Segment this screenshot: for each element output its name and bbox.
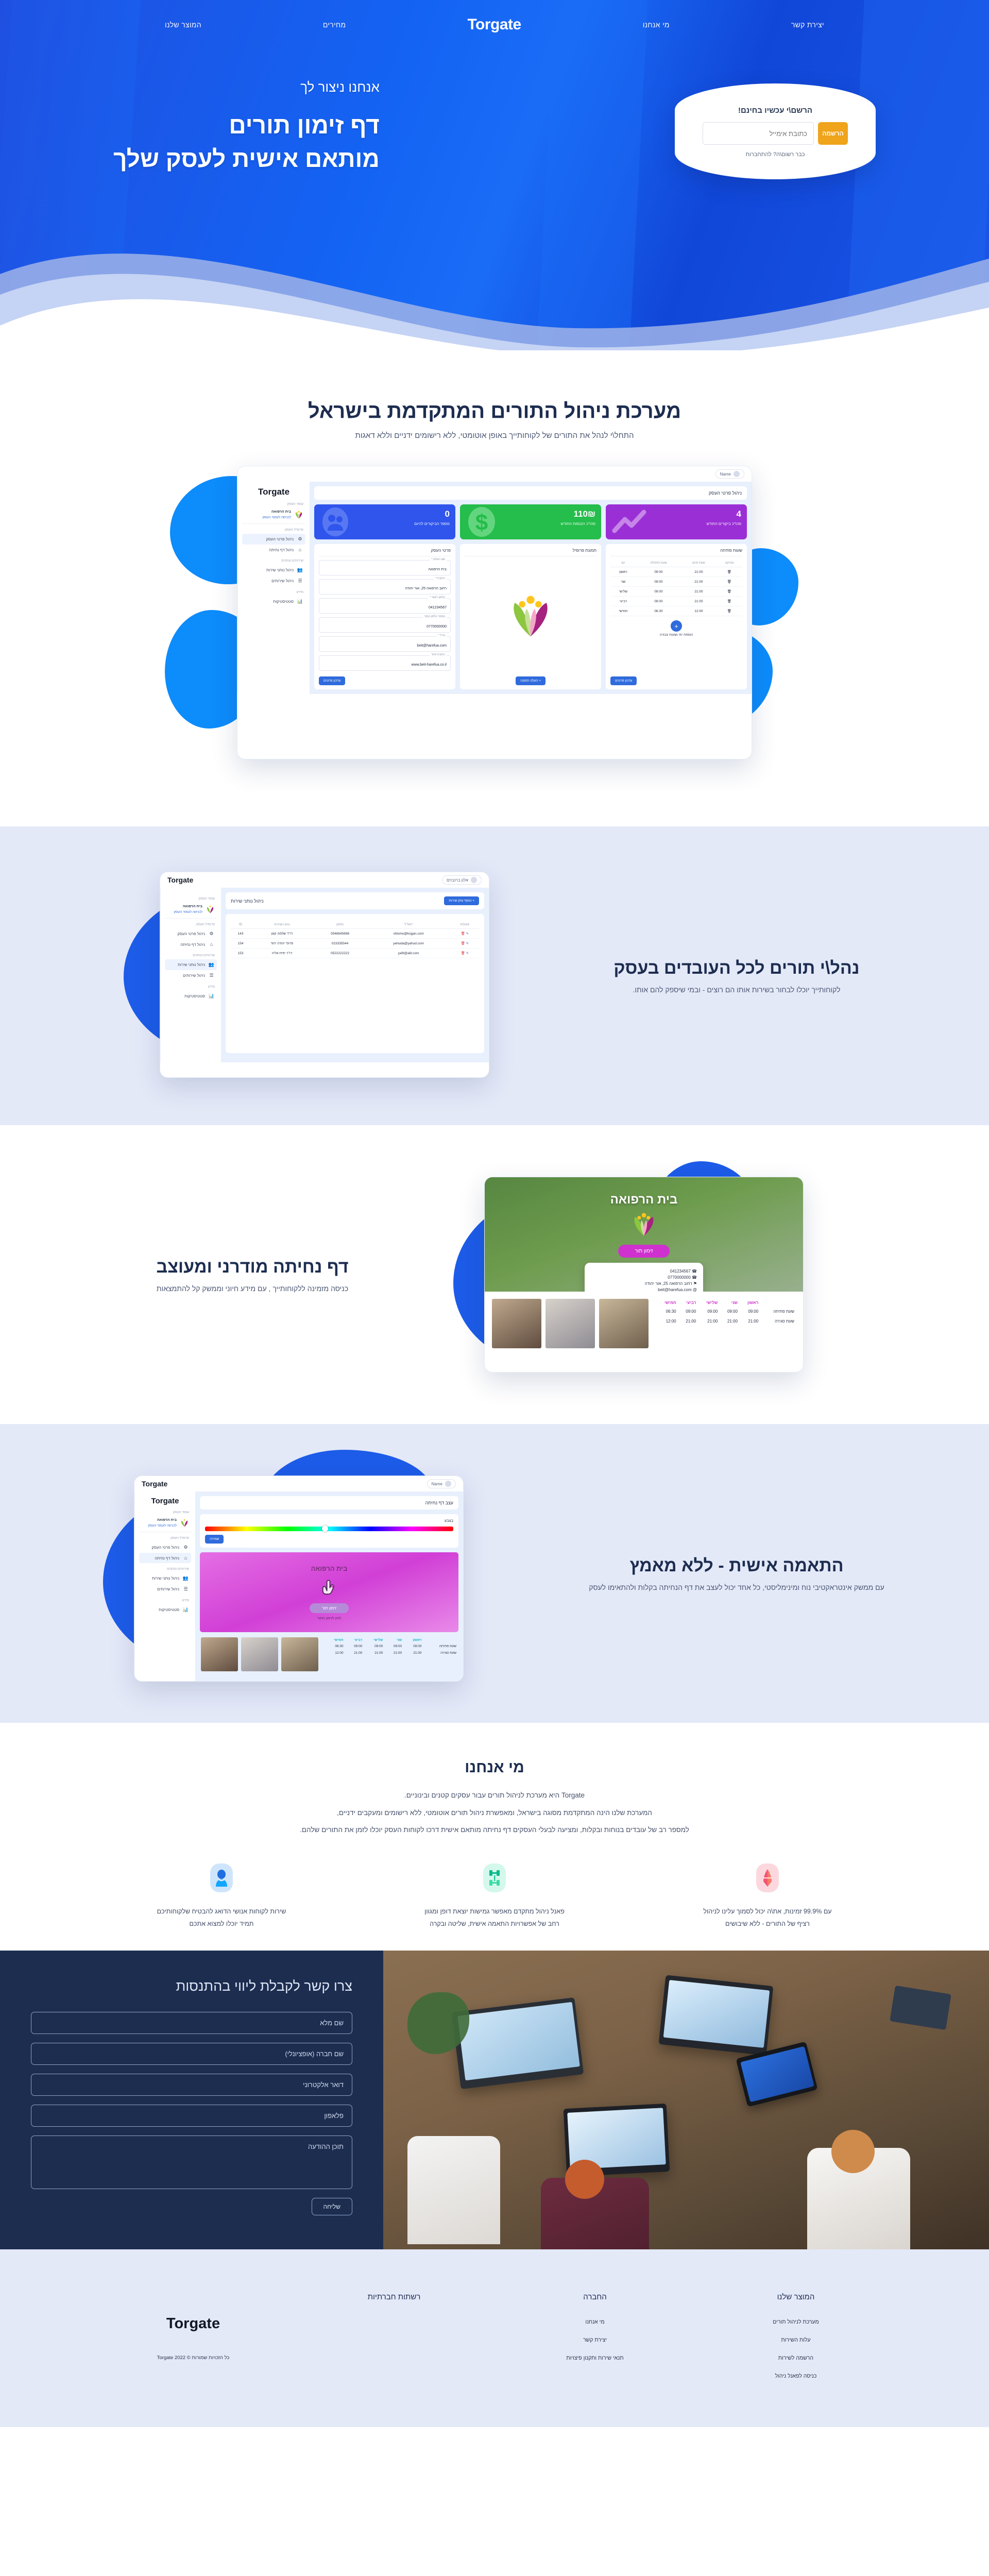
- phone-icon: ☎: [692, 1269, 697, 1274]
- cell-id: 153: [231, 948, 250, 958]
- people-icon: 👥: [209, 962, 214, 968]
- field-business-name[interactable]: שם העסק *בית הרפואה: [319, 560, 451, 575]
- email-field[interactable]: [31, 2074, 352, 2096]
- sidebar-item-services[interactable]: ☰ניהול שירותים: [242, 575, 305, 586]
- providers-heading: נהל\י תורים לכל העובדים בעסק: [577, 958, 896, 978]
- sidebar-business-name: בית הרפואה: [262, 510, 291, 515]
- close-time: 21:00: [363, 1650, 384, 1656]
- add-hours-label: הוספת ימי ושעות עבודה: [610, 633, 742, 637]
- panel-title: ניהול פרטי העסק: [314, 486, 747, 500]
- field-value: בית הרפואה: [428, 568, 447, 571]
- cell-day: שלישי: [610, 587, 636, 597]
- th-actions: פעולות: [451, 921, 479, 929]
- table-row: ✎ 🗑shlomo@kogan.com0546645696ד\"ר שלמה ק…: [231, 929, 479, 939]
- sidebar-item-landing-page[interactable]: ⌂ניהול דף נחיתה: [139, 1553, 191, 1563]
- footer-column-title: המוצר שלנו: [695, 2293, 896, 2301]
- signup-email-input[interactable]: [703, 122, 814, 145]
- company-field[interactable]: [31, 2043, 352, 2065]
- cell-start: 09:00: [636, 567, 681, 577]
- landing-page-section: דף נחיתה מודרני ומעוצב כניסה מזמינה ללקו…: [0, 1125, 989, 1424]
- list-icon: ☰: [297, 578, 303, 584]
- sidebar-caption-services: שירותים ונותנים: [167, 954, 215, 957]
- sidebar-item-label: ניהול דף נחיתה: [269, 548, 294, 552]
- profile-card-title: תמונת פרופיל: [465, 548, 596, 556]
- intro-artwork: Name ניהול פרטי העסק 4 סה\"כ ביקורים החו…: [0, 455, 989, 785]
- submit-button[interactable]: שליחה: [312, 2198, 353, 2215]
- providers-table: פעולות דוא\"ל טלפון נותן השירות ID ✎ 🗑sh…: [231, 921, 479, 958]
- contact-section: צרו קשר לקבלת ליווי בהתנסות שליחה: [0, 1951, 989, 2249]
- footer-link[interactable]: כניסה לפאנל ניהול: [695, 2373, 896, 2379]
- contact-text: רחוב הרפואה 25, אור יהודה: [645, 1281, 692, 1286]
- sidebar-item-label: ניהול שירותים: [183, 973, 205, 978]
- signup-title: הרשם\י עכשיו בחינם!: [703, 106, 848, 115]
- cell-email: yafit@alit.com: [366, 948, 450, 958]
- field-email[interactable]: מייל *beit@harefua.com: [319, 636, 451, 652]
- nav-about[interactable]: מי אנחנו: [643, 21, 670, 29]
- sidebar-item-services[interactable]: ☰ניהול שירותים: [139, 1584, 191, 1595]
- upload-image-button[interactable]: + העלה תמונה: [516, 676, 545, 685]
- save-color-button[interactable]: שמירה: [205, 1535, 224, 1544]
- intro-section: מערכת ניהול התורים המתקדמת בישראל התחל\י…: [0, 350, 989, 826]
- th-end: שעת סיום: [681, 560, 717, 567]
- color-picker-panel: בצבע שמירה: [200, 1514, 458, 1548]
- sidebar-business-link[interactable]: לכניסה לעמוד העסק: [262, 515, 291, 520]
- cell-email: shlomo@kogan.com: [366, 929, 450, 939]
- preview-title: בית הרפואה: [200, 1565, 458, 1572]
- customization-heading: התאמה אישית - ללא מאמץ: [577, 1556, 896, 1576]
- footer-link[interactable]: תנאי שירות ותקנון פיצויות: [494, 2355, 695, 2361]
- cell-start: 09:00: [636, 597, 681, 606]
- hours-table: מחיקה שעת סיום שעת התחלה יום 🗑21:0009:00…: [610, 560, 742, 616]
- close-label: שעת סגירה: [760, 1316, 796, 1326]
- hours-card-title: שעות פתיחה: [610, 548, 742, 556]
- delete-icon[interactable]: 🗑: [717, 567, 742, 577]
- sidebar-business-link[interactable]: לכניסה לעמוד העסק: [174, 910, 202, 915]
- signup-card: הרשם\י עכשיו בחינם! הרשמה כבר רשום\ה? לה…: [675, 83, 876, 179]
- open-time: 09:00: [345, 1643, 364, 1650]
- feature-text: פאנל ניהול מתקדם מאפשר גמישות יוצאת דופן…: [386, 1906, 603, 1930]
- sidebar-item-business-details[interactable]: ⚙ניהול פרטי העסק: [139, 1542, 191, 1553]
- field-caption: מייל *: [437, 634, 447, 637]
- cell-day: ראשון: [610, 567, 636, 577]
- field-main-phone[interactable]: טלפון ראשי *041234567: [319, 598, 451, 614]
- sidebar-caption-profile: פרופיל העסק: [244, 528, 303, 532]
- footer-copyright: כל הזכויות שמורות © Torgate 2022: [93, 2355, 294, 2361]
- home-icon: ⌂: [209, 942, 214, 947]
- about-paragraph-2: המערכת שלנו הינה המתקדמת מסוגה בישראל, ו…: [0, 1807, 989, 1819]
- table-row: 🗑12:0006:30חמישי: [610, 606, 742, 616]
- sidebar-item-landing-page[interactable]: ⌂ניהול דף נחיתה: [242, 545, 305, 555]
- open-time: 09:00: [384, 1643, 403, 1650]
- delete-icon[interactable]: 🗑: [717, 606, 742, 616]
- landing-preview: בית הרפואה זימון תור לחץ לזימון התור: [200, 1552, 458, 1632]
- sidebar-caption-services: שירותים ונותנים: [244, 559, 303, 563]
- sidebar-item-providers[interactable]: 👥ניהול נותני שירות: [242, 565, 305, 575]
- about-section: מי אנחנו Torgate היא מערכת לניהול תורים …: [0, 1723, 989, 1951]
- th-delete: מחיקה: [717, 560, 742, 567]
- kpi-card-visits: 4 סה\"כ ביקורים החודש: [606, 504, 747, 539]
- close-time: 21:00: [719, 1316, 739, 1326]
- home-icon: ⌂: [183, 1555, 189, 1561]
- phone-field[interactable]: [31, 2105, 352, 2127]
- intro-heading: מערכת ניהול התורים המתקדמת בישראל: [0, 400, 989, 423]
- sidebar-item-label: ניהול פרטי העסק: [152, 1545, 179, 1550]
- profile-image-card: תמונת פרופיל: [460, 544, 601, 689]
- list-icon: ☰: [183, 1586, 189, 1592]
- hours-update-button[interactable]: עדכון פרטים: [610, 676, 637, 685]
- sidebar-caption-profile: פרופיל העסק: [167, 923, 215, 926]
- th-id: ID: [231, 921, 250, 929]
- sidebar-item-providers[interactable]: 👥ניהול נותני שירות: [139, 1573, 191, 1584]
- hero-title-line-2: מותאם אישית לעסק שלך: [113, 142, 380, 176]
- footer-link[interactable]: עלות השירות: [695, 2337, 896, 2343]
- cell-day: חמישי: [610, 606, 636, 616]
- preview-tagline: לחץ לזימון התור: [200, 1617, 458, 1620]
- sidebar-item-label: ניהול שירותים: [157, 1587, 179, 1591]
- brand-logo-text: Torgate: [467, 16, 521, 33]
- sidebar-item-business-details[interactable]: ⚙ניהול פרטי העסק: [242, 534, 305, 545]
- people-icon: 👥: [297, 567, 303, 573]
- contact-text: beit@harefua.com: [658, 1287, 692, 1292]
- gallery-photo: [599, 1299, 649, 1348]
- people-icon: 👥: [183, 1575, 189, 1581]
- bar-chart-icon: 📊: [183, 1607, 189, 1613]
- cell-phone: 023335544: [314, 939, 367, 948]
- th-provider: נותן השירות: [250, 921, 313, 929]
- sidebar-item-statistics[interactable]: 📊סטטיסטיקות: [139, 1604, 191, 1615]
- th-day: יום: [610, 560, 636, 567]
- flower-logo-icon: [180, 1518, 189, 1528]
- cell-id: 154: [231, 939, 250, 948]
- footer-column-product: המוצר שלנו מערכת לניהול תורים עלות השירו…: [695, 2293, 896, 2391]
- contact-row: ☎ 0770000000: [591, 1275, 697, 1280]
- sidebar-business-block[interactable]: בית הרפואהלכניסה לעמוד העסק: [139, 1516, 191, 1532]
- providers-subtitle: לקוחותייך יוכלו לבחור בשירות אותו הם רוצ…: [577, 986, 896, 994]
- customization-artwork: Name Torgate עצב דף נחיתה בצבע שמירה: [93, 1460, 556, 1687]
- cell-name: ד\"ר שלמה קוגן: [250, 929, 313, 939]
- flower-logo-icon: [294, 510, 303, 519]
- avatar: [471, 877, 477, 883]
- site-footer: המוצר שלנו מערכת לניהול תורים עלות השירו…: [0, 2249, 989, 2427]
- contact-text: 0770000000: [668, 1275, 691, 1280]
- bar-chart-icon: 📊: [209, 993, 214, 999]
- about-paragraph-1: Torgate היא מערכת לניהול תורים עבור עסקי…: [0, 1790, 989, 1801]
- feature-card-rocket: עם 99.9% זמינות, את\ה יכול לסמוך עלינו ל…: [639, 1863, 896, 1930]
- sidebar-business-link[interactable]: לכניסה לעמוד העסק: [148, 1523, 177, 1529]
- providers-panel-title: ניהול נותני שירות: [231, 899, 264, 904]
- sidebar-business-name: בית הרפואה: [174, 904, 202, 910]
- user-chip-label: Name: [720, 472, 731, 477]
- cell-name: ד\"ר יפית אליה: [250, 948, 313, 958]
- hero-kicker: אנחנו ניצור לך: [113, 79, 380, 95]
- field-alt-phone[interactable]: מספר טלפון נוסף0770000000: [319, 617, 451, 633]
- close-time: 21:00: [739, 1316, 760, 1326]
- top-navigation: יצירת קשר מי אנחנו Torgate מחירים המוצר …: [0, 0, 989, 49]
- nav-product[interactable]: המוצר שלנו: [165, 21, 201, 29]
- sidebar-item-label: סטטיסטיקות: [159, 1607, 179, 1612]
- close-time: 21:00: [403, 1650, 422, 1656]
- day-header: שלישי: [363, 1637, 384, 1643]
- dumbbell-icon: [483, 1863, 506, 1892]
- cell-id: 143: [231, 929, 250, 939]
- sidebar-item-label: ניהול נותני שירות: [178, 962, 205, 967]
- dashboard-sidebar: Torgate עמוד העסק בית הרפואה לכניסה ל: [237, 482, 310, 694]
- business-details-card: פרטי העסק שם העסק *בית הרפואה כתובת *רחו…: [314, 544, 455, 689]
- cell-email: yehuda@yahud.com: [366, 939, 450, 948]
- avatar: [734, 471, 740, 477]
- office-photo: [383, 1951, 989, 2249]
- sidebar-logo: Torgate: [242, 487, 305, 497]
- customization-subtitle: עם ממשק אינטראקטיבי נוח ומינימליסטי, כל …: [577, 1583, 896, 1591]
- nav-pricing[interactable]: מחירים: [323, 21, 346, 29]
- field-caption: מספר טלפון נוסף: [423, 615, 447, 618]
- cell-end: 21:00: [681, 587, 717, 597]
- day-header: ראשון: [739, 1299, 760, 1307]
- opening-hours-table: ראשון שני שלישי רביעי חמישי שעת פתיחה 09…: [656, 1299, 796, 1326]
- gallery-photo: [281, 1637, 318, 1671]
- table-row: 🗑21:0009:00שני: [610, 577, 742, 587]
- sidebar-business-block[interactable]: בית הרפואהלכניסה לעמוד העסק: [165, 903, 217, 919]
- preview-hours-table: ראשון שני שלישי רביעי חמישי שעת פתיחה 09…: [323, 1637, 457, 1656]
- table-row: 🗑21:0009:00רביעי: [610, 597, 742, 606]
- about-heading: מי אנחנו: [0, 1759, 989, 1776]
- landing-heading: דף נחיתה מודרני ומעוצב: [93, 1257, 412, 1277]
- th-email: דוא\"ל: [366, 921, 450, 929]
- footer-link[interactable]: מי אנחנו: [494, 2319, 695, 2325]
- providers-mockup: אלון ברנבוים Torgate + הוסף נותן שירות נ…: [160, 872, 489, 1078]
- hero-title-line-1: דף זימון תורים: [113, 109, 380, 142]
- landing-copy: דף נחיתה מודרני ומעוצב כניסה מזמינה ללקו…: [93, 1257, 412, 1293]
- sidebar-item-label: ניהול נותני שירות: [266, 568, 294, 572]
- customization-mockup: Name Torgate עצב דף נחיתה בצבע שמירה: [134, 1476, 464, 1682]
- open-time: 09:00: [719, 1307, 739, 1316]
- at-icon: @: [693, 1287, 697, 1292]
- field-value: 0770000000: [427, 625, 447, 629]
- sidebar-item-providers[interactable]: 👥ניהול נותני שירות: [165, 959, 217, 970]
- rocket-icon: [756, 1863, 779, 1892]
- feature-text: שירות לקוחות אנושי הדואג להבטיח שלקוחותי…: [113, 1906, 330, 1930]
- landing-subtitle: כניסה מזמינה ללקוחותייך , עם מידע חיוני …: [93, 1284, 412, 1293]
- user-chip[interactable]: אלון ברנבוים: [442, 875, 482, 885]
- pin-icon: ⚑: [693, 1281, 697, 1286]
- mockup-logo: Torgate: [142, 1480, 167, 1488]
- day-header: חמישי: [656, 1299, 678, 1307]
- sidebar-caption-business: עמוד העסק: [167, 897, 215, 901]
- open-time: 06:30: [323, 1643, 345, 1650]
- row-actions[interactable]: ✎ 🗑: [451, 929, 479, 939]
- flower-logo-icon: [630, 1210, 658, 1238]
- brand-logo[interactable]: Torgate: [467, 16, 521, 33]
- nav-contact[interactable]: יצירת קשר: [791, 21, 824, 29]
- field-caption: כתובת *: [434, 577, 447, 580]
- providers-section: נהל\י תורים לכל העובדים בעסק לקוחותייך י…: [0, 826, 989, 1125]
- color-slider-handle[interactable]: [322, 1526, 328, 1532]
- day-header: חמישי: [323, 1637, 345, 1643]
- kpi-card-today: 0 מספר הביקורים להיום: [314, 504, 455, 539]
- sidebar-caption-profile: פרופיל העסק: [141, 1536, 189, 1540]
- field-address[interactable]: כתובת *רחוב הרפואה 25, אור יהודה: [319, 579, 451, 595]
- table-row: 🗑21:0009:00ראשון: [610, 567, 742, 577]
- kpi-label: סה\"כ ביקורים החודש: [611, 521, 741, 526]
- open-time: 09:00: [403, 1643, 422, 1650]
- open-label: שעת פתיחה: [423, 1643, 457, 1650]
- feature-text: עם 99.9% זמינות, את\ה יכול לסמוך עלינו ל…: [659, 1906, 876, 1930]
- sidebar-item-label: ניהול פרטי העסק: [266, 537, 294, 541]
- open-time: 09:00: [697, 1307, 719, 1316]
- click-hand-icon: [317, 1574, 341, 1598]
- landing-artwork: בית הרפואה זימון תור ☎ 041234567 ☎ 07700…: [433, 1161, 896, 1388]
- signup-button[interactable]: הרשמה: [818, 122, 848, 145]
- feature-card-support: שירות לקוחות אנושי הדואג להבטיח שלקוחותי…: [93, 1863, 350, 1930]
- color-label: בצבע: [205, 1518, 453, 1523]
- sidebar-caption-services: שירותים ונותנים: [141, 1567, 189, 1571]
- day-header: רביעי: [678, 1299, 698, 1307]
- field-website[interactable]: כתובת אתרwww.beit-harefua.co.il: [319, 655, 451, 671]
- hero-title: דף זימון תורים מותאם אישית לעסק שלך: [113, 109, 380, 176]
- customization-section: התאמה אישית - ללא מאמץ עם ממשק אינטראקטי…: [0, 1424, 989, 1723]
- field-caption: טלפון ראשי *: [428, 596, 447, 599]
- gallery-photo: [545, 1299, 595, 1348]
- open-time: 09:00: [363, 1643, 384, 1650]
- cell-day: רביעי: [610, 597, 636, 606]
- sidebar-item-label: ניהול דף נחיתה: [180, 942, 205, 947]
- contact-text: 041234567: [670, 1269, 691, 1274]
- field-value: www.beit-harefua.co.il: [412, 663, 447, 667]
- field-caption: שם העסק *: [430, 558, 447, 561]
- delete-icon[interactable]: 🗑: [717, 577, 742, 587]
- phone-icon: ☎: [692, 1275, 697, 1280]
- th-phone: טלפון: [314, 921, 367, 929]
- contact-heading: צרו קשר לקבלת ליווי בהתנסות: [31, 1978, 352, 1994]
- field-value: 041234567: [429, 606, 447, 609]
- mockup-logo: Torgate: [167, 876, 193, 884]
- customization-panel-title: עצב דף נחיתה: [200, 1496, 458, 1510]
- open-time: 09:00: [739, 1307, 760, 1316]
- sidebar-caption-info: מידע: [141, 1599, 189, 1602]
- close-time: 21:00: [384, 1650, 403, 1656]
- sidebar-item-services[interactable]: ☰ניהול שירותים: [165, 970, 217, 981]
- business-update-button[interactable]: עדכון פרטים: [319, 676, 345, 685]
- customization-copy: התאמה אישית - ללא מאמץ עם ממשק אינטראקטי…: [577, 1556, 896, 1591]
- color-slider[interactable]: [205, 1527, 453, 1531]
- avatar: [445, 1481, 451, 1487]
- gear-icon: ⚙: [209, 931, 214, 937]
- full-name-field[interactable]: [31, 2012, 352, 2034]
- close-label: שעת סגירה: [423, 1650, 457, 1656]
- row-actions[interactable]: ✎ 🗑: [451, 948, 479, 958]
- sidebar-item-statistics[interactable]: 📊סטטיסטיקות: [165, 991, 217, 1002]
- close-time: 12:00: [323, 1650, 345, 1656]
- gear-icon: ⚙: [297, 536, 303, 542]
- th-start: שעת התחלה: [636, 560, 681, 567]
- cell-start: 09:00: [636, 587, 681, 597]
- contact-row: ⚑ רחוב הרפואה 25, אור יהודה: [591, 1281, 697, 1286]
- footer-link[interactable]: הרשמה לשירות: [695, 2355, 896, 2361]
- bar-chart-icon: 📊: [297, 599, 303, 604]
- gallery-photo: [201, 1637, 238, 1671]
- add-provider-button[interactable]: + הוסף נותן שירות: [444, 896, 479, 905]
- clinic-landing-mockup: בית הרפואה זימון תור ☎ 041234567 ☎ 07700…: [484, 1177, 804, 1372]
- home-icon: ⌂: [297, 547, 303, 552]
- signup-login-link[interactable]: כבר רשום\ה? להתחברות: [703, 151, 848, 158]
- cell-end: 21:00: [681, 597, 717, 606]
- sidebar-business-block[interactable]: בית הרפואה לכניסה לעמוד העסק: [242, 508, 305, 524]
- close-time: 21:00: [345, 1650, 364, 1656]
- preview-cta-button[interactable]: זימון תור: [310, 1603, 349, 1613]
- sidebar-caption-info: מידע: [167, 985, 215, 989]
- sidebar-item-statistics[interactable]: 📊סטטיסטיקות: [242, 596, 305, 607]
- message-field[interactable]: [31, 2136, 352, 2189]
- flower-logo-icon: [206, 905, 215, 914]
- user-chip[interactable]: Name: [715, 469, 744, 479]
- open-time: 09:00: [678, 1307, 698, 1316]
- sidebar-caption-business: עמוד העסק: [244, 502, 303, 506]
- delete-icon[interactable]: 🗑: [717, 587, 742, 597]
- row-actions[interactable]: ✎ 🗑: [451, 939, 479, 948]
- footer-brand: Torgate כל הזכויות שמורות © Torgate 2022: [93, 2293, 294, 2391]
- footer-link[interactable]: יצירת קשר: [494, 2337, 695, 2343]
- clinic-title: בית הרפואה: [485, 1193, 803, 1207]
- close-time: 12:00: [656, 1316, 678, 1326]
- footer-column-company: החברה מי אנחנו יצירת קשר תנאי שירות ותקנ…: [494, 2293, 695, 2391]
- close-time: 21:00: [697, 1316, 719, 1326]
- day-header: רביעי: [345, 1637, 364, 1643]
- add-hours-button[interactable]: +: [671, 620, 682, 632]
- list-icon: ☰: [209, 973, 214, 978]
- sidebar-item-label: סטטיסטיקות: [184, 994, 205, 998]
- providers-artwork: אלון ברנבוים Torgate + הוסף נותן שירות נ…: [93, 862, 556, 1089]
- footer-column-title: רשתות חברתיות: [294, 2293, 494, 2301]
- cell-end: 21:00: [681, 567, 717, 577]
- flower-logo-icon: [506, 591, 555, 640]
- day-header: שני: [719, 1299, 739, 1307]
- cell-start: 09:00: [636, 577, 681, 587]
- hero-section: יצירת קשר מי אנחנו Torgate מחירים המוצר …: [0, 0, 989, 350]
- table-row: ✎ 🗑yafit@alit.com0522222222ד\"ר יפית אלי…: [231, 948, 479, 958]
- sidebar-item-landing-page[interactable]: ⌂ניהול דף נחיתה: [165, 939, 217, 950]
- cell-phone: 0546645696: [314, 929, 367, 939]
- book-appointment-button[interactable]: זימון תור: [618, 1245, 669, 1258]
- cell-start: 06:30: [636, 606, 681, 616]
- sidebar-item-label: ניהול דף נחיתה: [155, 1556, 179, 1561]
- providers-copy: נהל\י תורים לכל העובדים בעסק לקוחותייך י…: [577, 958, 896, 994]
- cell-end: 12:00: [681, 606, 717, 616]
- sidebar-caption-business: עמוד העסק: [141, 1511, 189, 1514]
- kpi-card-revenue: $ 110₪ סה\"כ הכנסות החודש: [460, 504, 601, 539]
- user-chip[interactable]: Name: [427, 1479, 456, 1488]
- contact-row: @ beit@harefua.com: [591, 1287, 697, 1292]
- table-row: ✎ 🗑yehuda@yahud.com023335544פרופ' יהודה …: [231, 939, 479, 948]
- field-value: רחוב הרפואה 25, אור יהודה: [405, 587, 447, 590]
- contact-row: ☎ 041234567: [591, 1269, 697, 1274]
- user-chip-label: Name: [432, 1482, 442, 1486]
- footer-link[interactable]: מערכת לניהול תורים: [695, 2319, 896, 2325]
- contact-form: צרו קשר לקבלת ליווי בהתנסות שליחה: [0, 1951, 383, 2249]
- user-chip-label: אלון ברנבוים: [447, 878, 468, 883]
- delete-icon[interactable]: 🗑: [717, 597, 742, 606]
- kpi-label: סה\"כ הכנסות החודש: [466, 521, 595, 526]
- sidebar-logo: Torgate: [139, 1497, 191, 1505]
- intro-subtitle: התחל\י לנהל את התורים של לקוחותייך באופן…: [0, 431, 989, 440]
- field-value: beit@harefua.com: [417, 644, 447, 648]
- cell-name: פרופ' יהודה יהוד: [250, 939, 313, 948]
- sidebar-item-business-details[interactable]: ⚙ניהול פרטי העסק: [165, 928, 217, 939]
- dashboard-mockup: Name ניהול פרטי העסק 4 סה\"כ ביקורים החו…: [237, 466, 752, 759]
- cell-end: 21:00: [681, 577, 717, 587]
- close-time: 21:00: [678, 1316, 698, 1326]
- sidebar-business-name: בית הרפואה: [148, 1518, 177, 1523]
- day-header: שני: [384, 1637, 403, 1643]
